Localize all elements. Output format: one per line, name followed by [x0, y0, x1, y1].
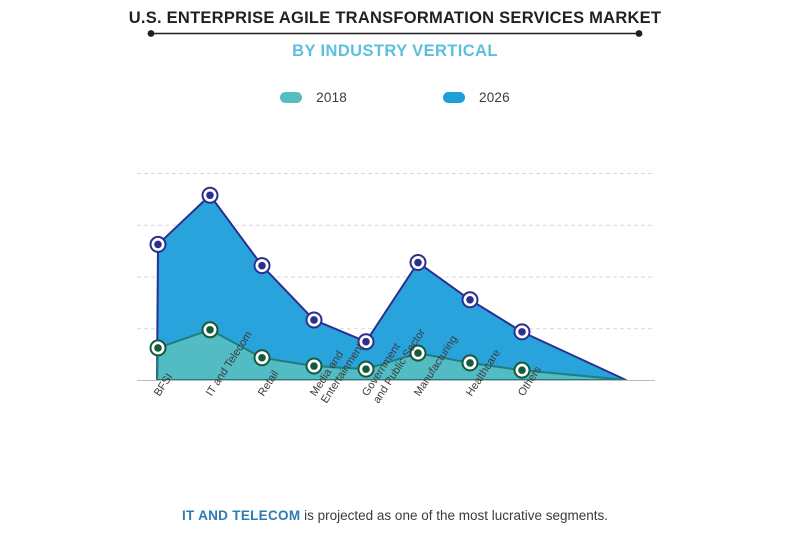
x-axis-label: BFSI: [152, 371, 176, 399]
x-axis-label: Media and Entertainment: [308, 335, 367, 407]
chart-page: U.S. ENTERPRISE AGILE TRANSFORMATION SER…: [0, 0, 790, 553]
x-axis-label: Others: [516, 364, 545, 399]
x-axis-label: Retail: [256, 368, 282, 399]
footnote-text: is projected as one of the most lucrativ…: [300, 508, 608, 523]
x-axis-label: IT and Telecom: [204, 329, 256, 399]
footnote-highlight: IT AND TELECOM: [182, 508, 300, 523]
chart-x-axis-labels: BFSIIT and TelecomRetailMedia and Entert…: [0, 0, 790, 553]
x-axis-label: Healthcare: [464, 347, 504, 399]
chart-footnote: IT AND TELECOM is projected as one of th…: [0, 508, 790, 523]
